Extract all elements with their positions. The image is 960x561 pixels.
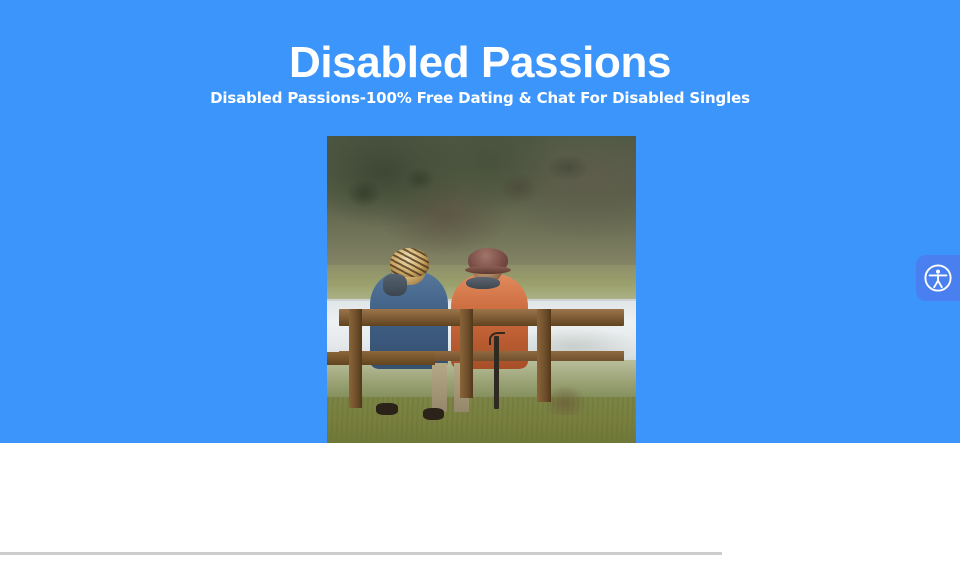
accessibility-widget-button[interactable] bbox=[916, 255, 960, 301]
page-root: Disabled Passions Disabled Passions-100%… bbox=[0, 0, 960, 561]
photo-person-left-scarf bbox=[383, 274, 408, 295]
photo-bench-post-2 bbox=[460, 309, 474, 398]
photo-leg-left bbox=[432, 363, 447, 412]
photo-person-left-hat bbox=[390, 248, 429, 277]
photo-bench-seat bbox=[327, 352, 435, 365]
content-divider bbox=[0, 552, 722, 555]
hero-banner: Disabled Passions Disabled Passions-100%… bbox=[0, 0, 960, 443]
photo-bench-post-1 bbox=[349, 309, 363, 407]
photo-bench-backrest bbox=[339, 309, 623, 326]
photo-bench-post-3 bbox=[537, 309, 551, 401]
site-tagline: Disabled Passions-100% Free Dating & Cha… bbox=[0, 88, 960, 109]
photo-walking-cane bbox=[494, 336, 499, 410]
photo-shoe-right bbox=[423, 408, 445, 420]
hero-photo bbox=[327, 136, 636, 443]
content-area bbox=[0, 443, 960, 561]
accessibility-icon bbox=[923, 263, 953, 293]
photo-shoe-left bbox=[376, 403, 398, 415]
page-title: Disabled Passions bbox=[0, 38, 960, 87]
photo-foreground-grass bbox=[327, 397, 636, 443]
